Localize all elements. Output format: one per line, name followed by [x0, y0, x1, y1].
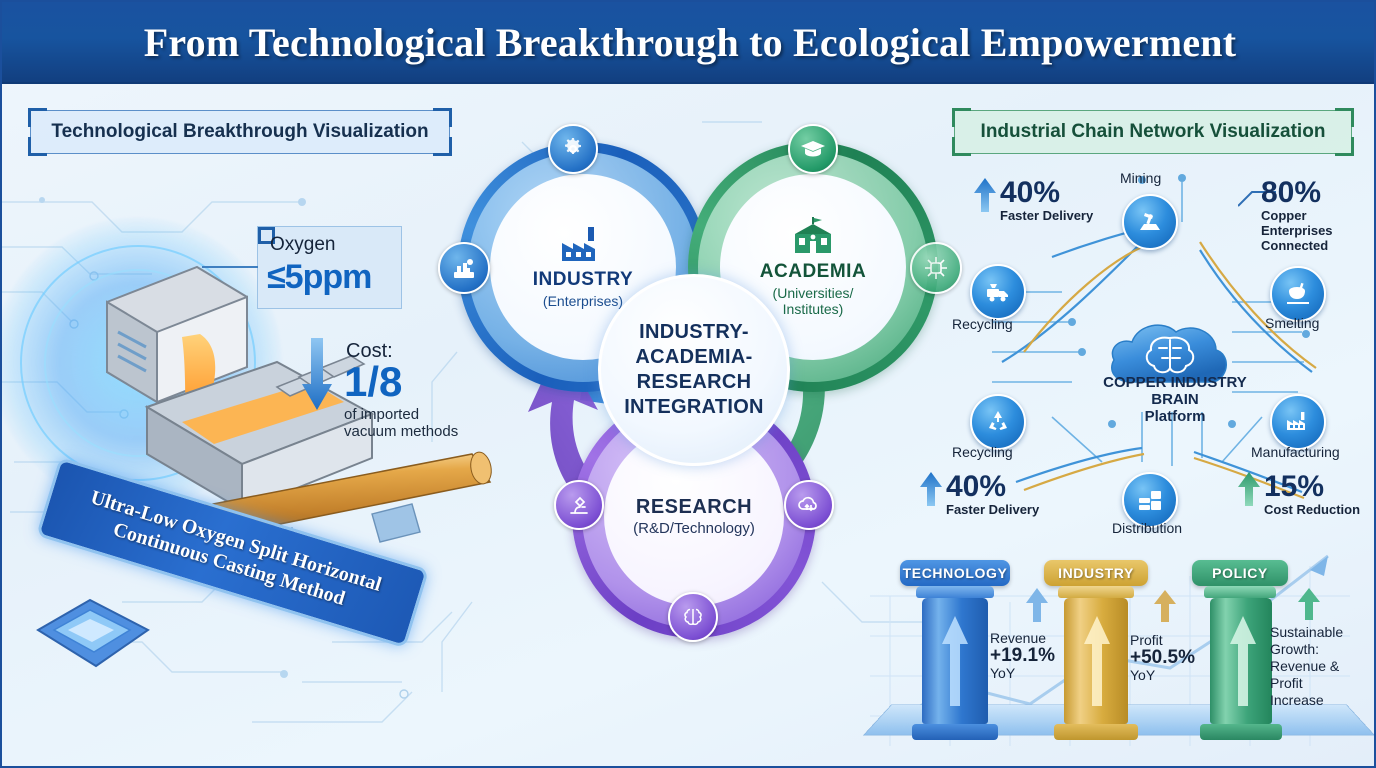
network-label-smelting: Smelting [1265, 315, 1319, 331]
pillar-technology-stat: Revenue +19.1% YoY [990, 630, 1056, 682]
cost-value: 1/8 [344, 360, 402, 404]
stat-line-1: Revenue [990, 630, 1046, 646]
stat-caption: Copper Enterprises Connected [1261, 208, 1376, 253]
network-node-mining[interactable] [1122, 194, 1178, 250]
right-panel-label: Industrial Chain Network Visualization [954, 110, 1352, 154]
stat-line-3: Revenue & Profit Increase [1270, 658, 1339, 708]
stat-value: 15% [1264, 472, 1360, 502]
ring-academia-subtitle: (Universities/ Institutes) [761, 285, 865, 317]
integration-hub: INDUSTRY-ACADEMIA-RESEARCH INTEGRATION [598, 274, 790, 466]
pillar-label: INDUSTRY [1058, 565, 1134, 581]
stat-value: 80% [1261, 178, 1376, 208]
robot-arm-icon [438, 242, 490, 294]
pillar-industry-stat: Profit +50.5% YoY [1130, 632, 1196, 684]
network-node-manufacturing[interactable] [1270, 394, 1326, 450]
network-label-manufacturing: Manufacturing [1251, 444, 1340, 460]
poster-title-bar: From Technological Breakthrough to Ecolo… [2, 2, 1376, 84]
stat-line-2: Growth: [1270, 641, 1319, 657]
platform-title: COPPER INDUSTRY BRAIN Platform [1082, 374, 1268, 425]
oxygen-leader-line [202, 260, 260, 274]
school-building-icon [788, 217, 838, 257]
ring-academia-title: ACADEMIA [760, 261, 866, 283]
up-arrow-icon [1154, 590, 1176, 622]
up-arrow-icon [1238, 472, 1260, 506]
oxygen-label: Oxygen [270, 234, 335, 256]
ring-research-title: RESEARCH [636, 496, 752, 519]
pillar-policy-cap: POLICY [1192, 560, 1288, 586]
stat-caption: Faster Delivery [1000, 208, 1093, 223]
factory-icon [559, 225, 607, 265]
up-arrow-icon [1298, 588, 1320, 620]
chip-icon [24, 574, 164, 694]
pillar-label: POLICY [1212, 565, 1268, 581]
up-arrow-icon [1228, 612, 1258, 708]
left-panel-label-text: Technological Breakthrough Visualization [51, 121, 428, 143]
ring-industry-subtitle: (Enterprises) [543, 293, 623, 309]
pillar-policy-stat: Sustainable Growth: Revenue & Profit Inc… [1270, 624, 1346, 709]
stat-caption: Cost Reduction [1264, 502, 1360, 517]
stat-line-2: +19.1% [990, 645, 1055, 666]
cloud-sync-icon [784, 480, 834, 530]
smelting-icon [1284, 280, 1312, 308]
stat-value: 40% [1000, 178, 1093, 208]
down-arrow-icon [302, 338, 332, 414]
factory-icon [1284, 408, 1312, 436]
stat-line-2: +50.5% [1130, 647, 1195, 668]
network-chip-icon [910, 242, 962, 294]
mining-icon [1136, 208, 1164, 236]
ring-industry-title: INDUSTRY [533, 269, 633, 291]
page-title: From Technological Breakthrough to Ecolo… [144, 19, 1237, 66]
brain-icon [668, 592, 718, 642]
right-panel-label-text: Industrial Chain Network Visualization [981, 121, 1326, 143]
pillar-industry-cap: INDUSTRY [1044, 560, 1148, 586]
up-arrow-icon [1026, 588, 1048, 622]
stat-line-3: YoY [990, 665, 1015, 681]
network-label-mining: Mining [1120, 170, 1161, 186]
graduation-cap-icon [788, 124, 838, 174]
platform-name: COPPER INDUSTRY BRAIN [1103, 374, 1247, 408]
infographic-poster: From Technological Breakthrough to Ecolo… [0, 0, 1376, 768]
stat-line-1: Profit [1130, 632, 1163, 648]
gear-icon [548, 124, 598, 174]
warehouse-icon [1136, 486, 1164, 514]
stat-line-1: Sustainable [1270, 624, 1343, 640]
stat-line-3: YoY [1130, 667, 1155, 683]
stat-copper-enterprises: 80% Copper Enterprises Connected [1261, 178, 1376, 253]
up-arrow-icon [1082, 612, 1112, 708]
platform-sub: Platform [1145, 408, 1206, 425]
oxygen-value: ≤5ppm [267, 258, 371, 297]
microscope-icon [554, 480, 604, 530]
network-node-smelting[interactable] [1270, 266, 1326, 322]
ring-research-subtitle: (R&D/Technology) [633, 521, 755, 537]
left-panel-label: Technological Breakthrough Visualization [30, 110, 450, 154]
network-label-distribution: Distribution [1112, 520, 1182, 536]
stat-cost-reduction: 15% Cost Reduction [1238, 472, 1360, 517]
integration-hub-text: INDUSTRY-ACADEMIA-RESEARCH INTEGRATION [601, 320, 787, 420]
